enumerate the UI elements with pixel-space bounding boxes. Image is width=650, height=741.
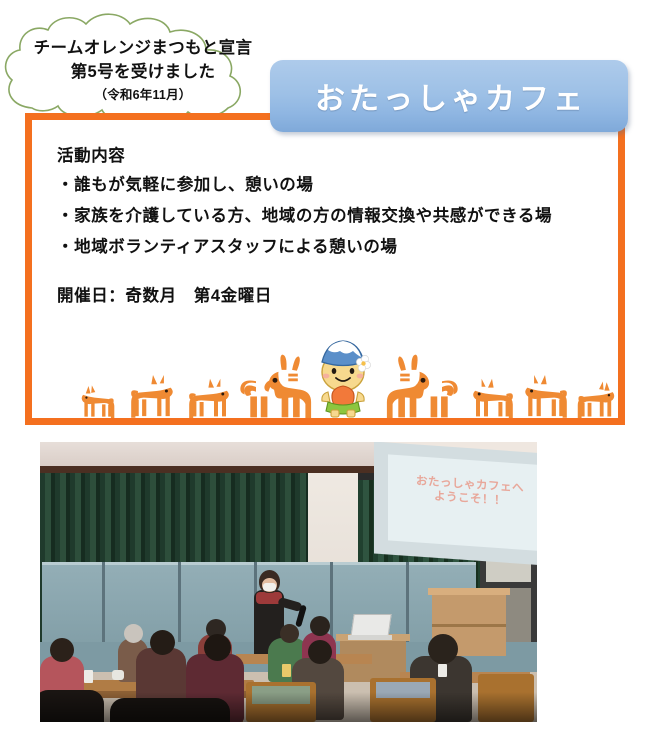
cloud-line-1: チームオレンジまつもと宣言 xyxy=(34,38,253,60)
photo-cup xyxy=(438,664,447,677)
photo-attendee-head xyxy=(50,638,74,662)
photo-attendee-head xyxy=(308,640,332,664)
activity-heading: 活動内容 xyxy=(57,144,637,170)
photo-ceiling-beam xyxy=(40,466,380,473)
photo-laptop-base xyxy=(348,635,392,640)
activity-text-block: 活動内容 ・誰もが気軽に参加し、憩いの場 ・家族を介護している方、地域の方の情報… xyxy=(57,144,637,264)
activity-bullet-3: ・地域ボランティアスタッフによる憩いの場 xyxy=(57,232,637,263)
donkey-icon-medium xyxy=(127,374,179,418)
event-photo: おたっしゃカフェへ ようこそ！！ xyxy=(40,442,537,722)
photo-presenter-mask xyxy=(263,583,276,591)
mascot-character xyxy=(312,338,374,420)
photo-bottom-shading xyxy=(40,692,537,722)
donkey-icon-medium2 xyxy=(185,378,235,418)
photo-attendee-head xyxy=(150,630,175,655)
donkey-icon-small xyxy=(573,380,619,418)
event-title-badge: おたっしゃカフェ xyxy=(270,60,628,132)
donkey-icon-large xyxy=(237,354,313,418)
event-date-line: 開催日：奇数月 第4金曜日 xyxy=(57,282,272,306)
donkey-icon-large xyxy=(385,354,461,418)
photo-cup xyxy=(282,664,291,677)
photo-cup xyxy=(112,670,124,680)
photo-cup xyxy=(84,670,93,683)
donkey-icon-medium xyxy=(519,374,571,418)
photo-attendee-head xyxy=(204,634,231,661)
event-title-label: おたっしゃカフェ xyxy=(311,74,587,118)
decorative-animal-strip xyxy=(63,332,603,418)
photo-cabinet-top xyxy=(428,588,510,595)
orange-framed-panel: 活動内容 ・誰もが気軽に参加し、憩いの場 ・家族を介護している方、地域の方の情報… xyxy=(25,113,625,425)
cloud-line-3: （令和6年11月） xyxy=(95,87,192,104)
donkey-icon-small xyxy=(77,384,119,418)
photo-attendee-head xyxy=(428,634,458,664)
poster-canvas: チームオレンジまつもと宣言 第5号を受けました （令和6年11月） 活動内容 ・… xyxy=(0,0,650,741)
donkey-icon-medium2 xyxy=(467,378,517,418)
activity-bullet-2: ・家族を介護している方、地域の方の情報交換や共感ができる場 xyxy=(57,201,637,232)
photo-attendee-head xyxy=(310,616,330,636)
activity-bullet-1: ・誰もが気軽に参加し、憩いの場 xyxy=(57,170,637,201)
photo-attendee-head xyxy=(124,624,143,643)
photo-attendee-head xyxy=(280,624,299,643)
photo-cabinet-seam xyxy=(432,624,506,627)
cloud-line-2: 第5号を受けました xyxy=(71,62,216,84)
